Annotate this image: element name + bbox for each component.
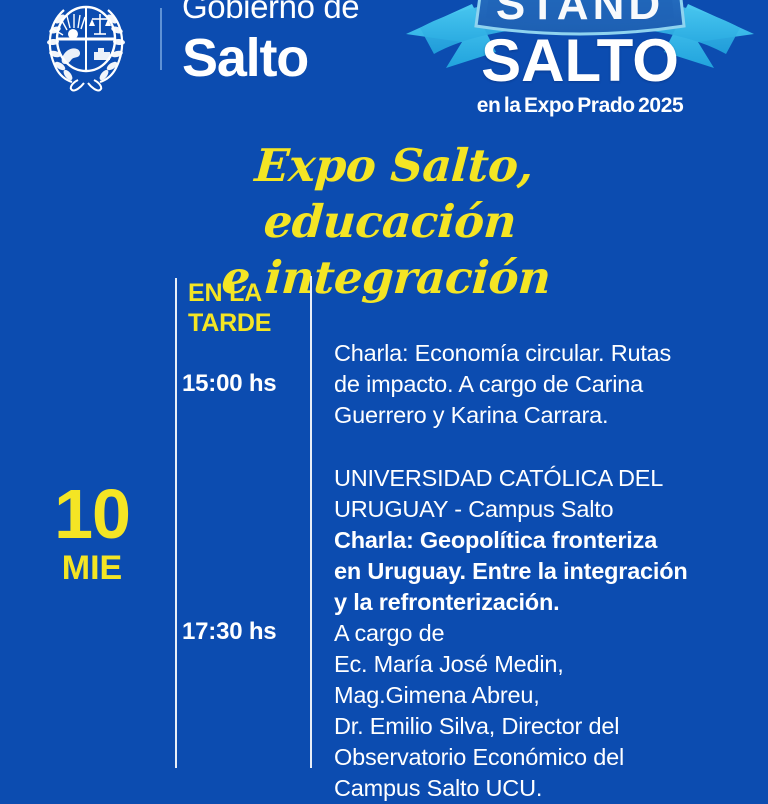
badge-subtitle: en la Expo Prado 2025 bbox=[392, 94, 768, 118]
event-line: URUGUAY - Campus Salto bbox=[334, 494, 758, 525]
event-line: UNIVERSIDAD CATÓLICA DEL bbox=[334, 463, 758, 494]
government-logotype: Gobierno de Salto bbox=[182, 0, 402, 88]
event-line: Ec. María José Medin, bbox=[334, 649, 758, 680]
expo-badge: STAND SALTO en la Expo Prado 2025 bbox=[392, 0, 768, 132]
schedule-divider-left bbox=[175, 278, 177, 768]
event-line: Observatorio Económico del bbox=[334, 742, 758, 773]
event-line: Charla: Geopolítica fronteriza bbox=[334, 525, 758, 556]
event-line: en Uruguay. Entre la integración bbox=[334, 556, 758, 587]
schedule-divider-right bbox=[310, 276, 312, 768]
event-line: Charla: Economía circular. Rutas bbox=[334, 338, 758, 369]
day-number: 10 bbox=[18, 482, 166, 546]
badge-title: SALTO bbox=[392, 30, 768, 92]
header-divider bbox=[160, 8, 162, 70]
event-line: Campus Salto UCU. bbox=[334, 773, 758, 804]
day-badge: 10 MIE bbox=[18, 482, 166, 590]
event-line: de impacto. A cargo de Carina bbox=[334, 369, 758, 400]
event-line: A cargo de bbox=[334, 618, 758, 649]
event-line: y la refronterización. bbox=[334, 587, 758, 618]
badge-top-word: STAND bbox=[392, 0, 768, 30]
day-weekday: MIE bbox=[18, 546, 166, 590]
slot-time-2: 17:30 hs bbox=[182, 618, 304, 646]
event-list: Charla: Economía circular. Rutas de impa… bbox=[334, 338, 758, 804]
event-block-1: Charla: Economía circular. Rutas de impa… bbox=[334, 338, 758, 431]
event-block-2: UNIVERSIDAD CATÓLICA DEL URUGUAY - Campu… bbox=[334, 463, 758, 804]
slot-time-1: 15:00 hs bbox=[182, 370, 304, 398]
expo-salto-schedule-poster: { "colors": { "background": "#0c4cb0", "… bbox=[0, 0, 768, 768]
event-line: Dr. Emilio Silva, Director del bbox=[334, 711, 758, 742]
gov-line-gobierno-de: Gobierno de bbox=[182, 0, 402, 28]
event-line: Guerrero y Karina Carrara. bbox=[334, 400, 758, 431]
event-block-spacer bbox=[334, 431, 758, 463]
event-line: Mag.Gimena Abreu, bbox=[334, 680, 758, 711]
daypart-label: EN LA TARDE bbox=[188, 278, 304, 338]
gov-line-salto: Salto bbox=[182, 28, 402, 88]
poster-header: Gobierno de Salto STAN bbox=[0, 0, 768, 130]
page-title-line1: Expo Salto, educación bbox=[253, 139, 535, 248]
uruguay-coat-of-arms-icon bbox=[34, 0, 138, 94]
